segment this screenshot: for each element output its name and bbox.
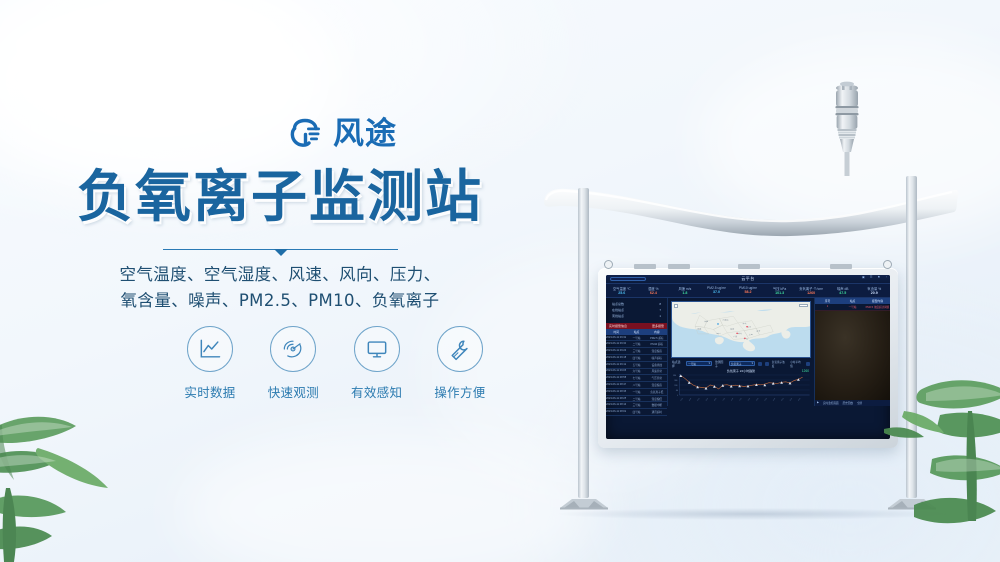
dashboard-screen[interactable]: 云平台 ▣ ☰ ⚑ ◔ 空气温度 ℃ 25.6 湿度 % 62.4: [606, 275, 890, 439]
spec-line-2: 氧含量、噪声、PM2.5、PM10、负氧离子: [0, 288, 560, 314]
svg-text:10:00: 10:00: [722, 397, 725, 401]
spec-line-1: 空气温度、空气湿度、风速、风向、压力、: [0, 262, 560, 288]
mount-clip: [738, 264, 760, 269]
user-icon[interactable]: ◔: [885, 276, 887, 280]
chart-toolbar: 负氧离子浓度 小时平均值: [758, 360, 810, 368]
svg-text:四川: 四川: [716, 332, 720, 334]
kpi-value: 1260: [795, 291, 827, 295]
legend-entry[interactable]: 小时平均值: [790, 360, 803, 368]
list-icon[interactable]: ☰: [870, 276, 873, 280]
feature-item-effective-sensing: 有效感知: [342, 326, 412, 401]
support-post-right: [906, 176, 917, 498]
mount-clip: [830, 264, 852, 269]
kpi-card: 湿度 % 62.4: [638, 284, 670, 297]
svg-text:20:00: 20:00: [764, 397, 767, 401]
svg-text:0: 0: [677, 394, 678, 396]
mini-stat-value: 8: [659, 302, 661, 306]
camera-controls: ▶ 实时监控画面 历史回放 全屏: [815, 400, 890, 406]
curved-canopy: [540, 176, 960, 240]
svg-text:08:00: 08:00: [714, 397, 717, 401]
kpi-card: PM10 ug/m³ 58.2: [732, 284, 764, 297]
radar-sensor-icon: [270, 326, 316, 372]
svg-text:22:00: 22:00: [773, 397, 776, 401]
search-input[interactable]: [610, 277, 646, 281]
svg-text:14:00: 14:00: [739, 397, 742, 401]
dashboard-center-column: 新疆内蒙古 东北陕西 北京湖北 上海广西 广东西藏 四川台湾: [668, 298, 814, 406]
svg-text:600: 600: [676, 389, 678, 391]
feature-item-fast-observation: 快速观测: [258, 326, 328, 401]
hero-text-block: 风途 负氧离子监测站 空气温度、空气湿度、风速、风向、压力、 氧含量、噪声、PM…: [0, 0, 560, 562]
svg-text:00:00: 00:00: [680, 397, 683, 401]
chevron-down-icon: ▾: [752, 362, 753, 365]
kpi-strip: 空气温度 ℃ 25.6 湿度 % 62.4 风速 m/s 1.8 PM2.5 u…: [606, 283, 890, 298]
site-select-label: 站点选择: [672, 360, 683, 368]
station-map[interactable]: 新疆内蒙古 东北陕西 北京湖北 上海广西 广东西藏 四川台湾: [671, 301, 811, 358]
mini-stat-label: 在线站点: [612, 308, 624, 312]
svg-text:02:00: 02:00: [790, 397, 793, 401]
kpi-card: 气压 kPa 101.3: [764, 284, 796, 297]
table-row[interactable]: 2023-06-11 09:24 三号站 湿度偏高: [606, 348, 667, 355]
dashboard-left-column: 站点总数 8 在线站点 7 离线站点 1 实时报警信息: [606, 298, 668, 406]
table-row[interactable]: 2023-06-11 08:47 八号站 温度偏高: [606, 382, 667, 389]
feature-label: 实时数据: [175, 382, 245, 401]
kpi-value: 58.2: [732, 290, 764, 294]
fullscreen-button[interactable]: 全屏: [857, 401, 862, 405]
display-panel-frame: 云平台 ▣ ☰ ⚑ ◔ 空气温度 ℃ 25.6 湿度 % 62.4: [598, 268, 898, 448]
feature-item-realtime-data: 实时数据: [175, 326, 245, 401]
chart-type-bar-button[interactable]: [765, 362, 769, 366]
svg-text:1800: 1800: [675, 379, 678, 381]
alarm-table-body: 2023-06-11 09:32 一号站 PM2.5 超标 2023-06-11…: [606, 335, 667, 416]
table-row[interactable]: 2023-06-11 08:25 二号站 湿度偏低: [606, 396, 667, 403]
mount-clip: [668, 264, 690, 269]
line-chart-icon: [187, 326, 233, 372]
chart-type-line-button[interactable]: [758, 362, 762, 366]
kpi-card: PM2.5 ug/m³ 37.0: [701, 284, 733, 297]
alarm-icon[interactable]: ⚑: [877, 276, 880, 280]
table-row[interactable]: 1 一号站 PM2.5 浓度超过阈值: [815, 304, 890, 311]
kpi-value: 62.4: [638, 291, 670, 295]
svg-text:02:00: 02:00: [689, 397, 692, 401]
feature-label: 快速观测: [258, 382, 328, 401]
svg-text:18:00: 18:00: [756, 397, 759, 401]
dashboard-header: 云平台 ▣ ☰ ⚑ ◔: [606, 275, 890, 283]
kpi-value: 25.6: [606, 291, 638, 295]
mini-stat-label: 离线站点: [612, 314, 624, 318]
table-row[interactable]: 2023-06-11 09:12 五号站 设备离线: [606, 362, 667, 369]
dashboard-title: 云平台: [741, 276, 754, 282]
table-row[interactable]: 2023-06-11 09:30 二号站 PM10 超标: [606, 341, 667, 348]
mini-stat-label: 站点总数: [612, 302, 624, 306]
kpi-label: 负氧离子 个/cm³: [795, 286, 827, 291]
svg-text:00:00: 00:00: [781, 397, 784, 401]
kpi-card: 风速 m/s 1.8: [669, 284, 701, 297]
brand-logo: 风途: [286, 114, 397, 154]
site-select[interactable]: 一号站 ▾: [686, 361, 712, 366]
kpi-value: 37.0: [701, 290, 733, 294]
table-row[interactable]: 2023-06-11 08:14 三号站 数据中断: [606, 402, 667, 409]
chart-controls: 站点选择 一号站 ▾ 监测因子 负氧离子 ▾: [671, 358, 811, 369]
table-row[interactable]: 2023-06-11 08:58 七号站 气压异常: [606, 375, 667, 382]
kpi-card: 负氧离子 个/cm³ 1260: [795, 284, 827, 297]
brand-name: 风途: [333, 119, 397, 150]
mount-ring-right: [883, 260, 892, 269]
mini-stat-value: 7: [659, 308, 661, 312]
svg-text:1200: 1200: [675, 384, 678, 386]
svg-text:04:00: 04:00: [798, 397, 801, 401]
factor-select-label: 监测因子: [715, 360, 726, 368]
dashboard-right-column: 序号 站点 报警内容 1 一号站 PM2.5 浓度超过阈值 ▶ 实时监控画面 历…: [814, 298, 890, 406]
feature-item-easy-operation: 操作方便: [425, 326, 495, 401]
monitoring-station-unit: 云平台 ▣ ☰ ⚑ ◔ 空气温度 ℃ 25.6 湿度 % 62.4: [540, 78, 960, 518]
mount-ring-left: [604, 260, 613, 269]
title-divider: [163, 249, 398, 250]
svg-text:16:00: 16:00: [748, 397, 751, 401]
feature-row: 实时数据 快速观测: [175, 326, 495, 401]
trend-chart: 负氧离子 24小时趋势 1260 24001800: [671, 369, 811, 403]
table-row[interactable]: 2023-06-11 08:36 一号站 负氧离子低: [606, 389, 667, 396]
support-post-left: [578, 188, 589, 498]
factor-select[interactable]: 负氧离子 ▾: [729, 361, 755, 366]
wind-cloud-logo-icon: [286, 114, 326, 154]
camera-live-label: 实时监控画面: [823, 401, 839, 405]
chart-title: 负氧离子 24小时趋势: [727, 369, 755, 373]
ultrasonic-weather-sensor: [828, 78, 866, 178]
play-icon[interactable]: ▶: [817, 401, 819, 404]
chevron-down-icon: ▾: [709, 362, 710, 365]
spec-list: 空气温度、空气湿度、风速、风向、压力、 氧含量、噪声、PM2.5、PM10、负氧…: [0, 262, 560, 313]
map-zoom-controls[interactable]: [799, 304, 808, 307]
table-row[interactable]: 2023-06-11 08:02 四号站 通讯超时: [606, 409, 667, 416]
wrench-icon: [437, 326, 483, 372]
camera-feed[interactable]: [815, 311, 890, 400]
table-row[interactable]: 2023-06-11 09:06 六号站 风速异常: [606, 369, 667, 376]
legend-entry[interactable]: 负氧离子浓度: [772, 360, 787, 368]
alarm-table-title: 实时报警信息: [609, 324, 627, 328]
dashboard-body: 站点总数 8 在线站点 7 离线站点 1 实时报警信息: [606, 298, 890, 406]
mini-stats: 站点总数 8 在线站点 7 离线站点 1: [606, 298, 667, 323]
map-icon[interactable]: ▣: [862, 276, 865, 280]
page-title: 负氧离子监测站: [0, 170, 560, 226]
chart-current-value: 1260: [802, 369, 809, 373]
kpi-value: 20.9: [859, 291, 891, 295]
mini-stat-row: 离线站点 1: [608, 313, 665, 319]
feature-label: 有效感知: [342, 382, 412, 401]
mount-clip: [634, 264, 656, 269]
svg-text:04:00: 04:00: [697, 397, 700, 401]
kpi-card: 空气温度 ℃ 25.6: [606, 284, 638, 297]
dashboard-header-icons: ▣ ☰ ⚑ ◔: [862, 276, 887, 280]
mini-stat-value: 1: [659, 314, 661, 318]
table-row[interactable]: 2023-06-11 09:18 四号站 噪声超标: [606, 355, 667, 362]
kpi-value: 47.5: [827, 291, 859, 295]
map-layer-button[interactable]: [674, 304, 678, 308]
chart-plot: 24001800 12006000: [671, 369, 811, 403]
svg-text:06:00: 06:00: [706, 397, 709, 401]
svg-text:2400: 2400: [673, 374, 676, 376]
feature-label: 操作方便: [425, 382, 495, 401]
base-plate-right: [888, 496, 936, 510]
kpi-value: 101.3: [764, 291, 796, 295]
monitor-icon: [354, 326, 400, 372]
table-row[interactable]: 2023-06-11 09:32 一号站 PM2.5 超标: [606, 335, 667, 342]
chart-export-button[interactable]: [806, 362, 810, 366]
camera-playback-link[interactable]: 历史回放: [843, 401, 853, 405]
base-plate-left: [560, 496, 608, 510]
more-alarms-link[interactable]: 更多报警: [652, 324, 664, 328]
svg-text:12:00: 12:00: [731, 397, 734, 401]
kpi-card: 噪声 dB 47.5: [827, 284, 859, 297]
kpi-card: 氧含量 % 20.9: [859, 284, 891, 297]
kpi-value: 1.8: [669, 291, 701, 295]
